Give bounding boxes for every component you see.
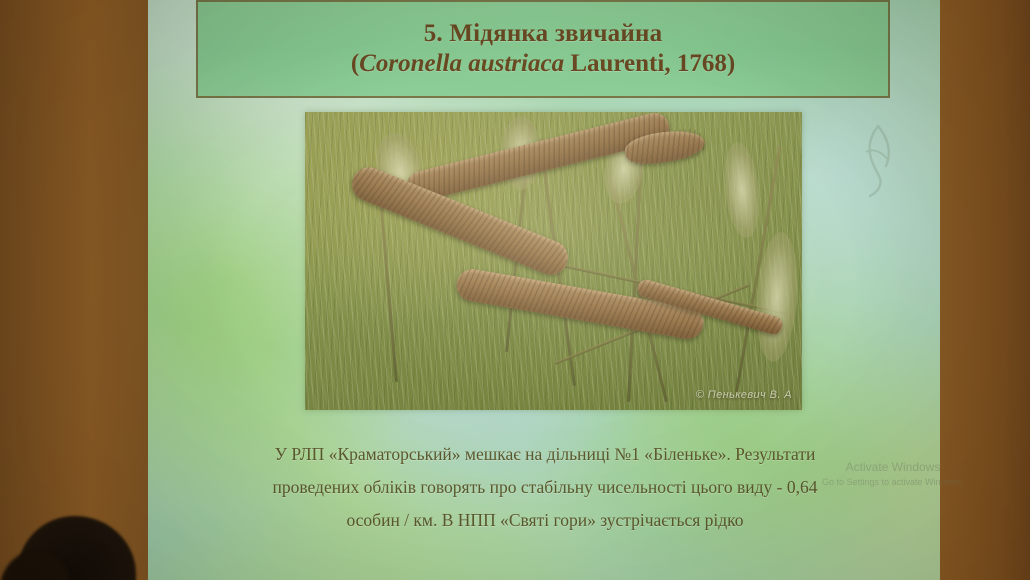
caption-line-3: особин / км. В НПП «Святі гори» зустріча… [184,504,906,537]
taxonomic-authority: Laurenti, 1768) [564,50,735,77]
photo-credit-watermark: © Пенькевич В. А [696,389,792,401]
caption-line-2: проведених обліків говорять про стабільн… [184,471,906,504]
scientific-name: Coronella austriaca [359,50,564,77]
slide-title-line-2: (Coronella austriaca Laurenti, 1768) [351,50,735,78]
caption-line-1: У РЛП «Краматорський» мешкає на дільниці… [184,438,906,471]
room-wall-left [0,0,150,580]
species-photo: © Пенькевич В. А [305,112,802,410]
slide-caption: У РЛП «Краматорський» мешкає на дільниці… [184,438,906,537]
slide-title-line-1: 5. Мідянка звичайна [424,20,663,48]
paren-open: ( [351,50,359,77]
slide-title-box: 5. Мідянка звичайна (Coronella austriaca… [196,0,890,98]
projector-room-photo: 5. Мідянка звичайна (Coronella austriaca… [0,0,1030,580]
projected-slide: 5. Мідянка звичайна (Coronella austriaca… [148,0,940,580]
decorative-flourish-icon [848,122,904,198]
room-wall-right [938,0,1030,580]
